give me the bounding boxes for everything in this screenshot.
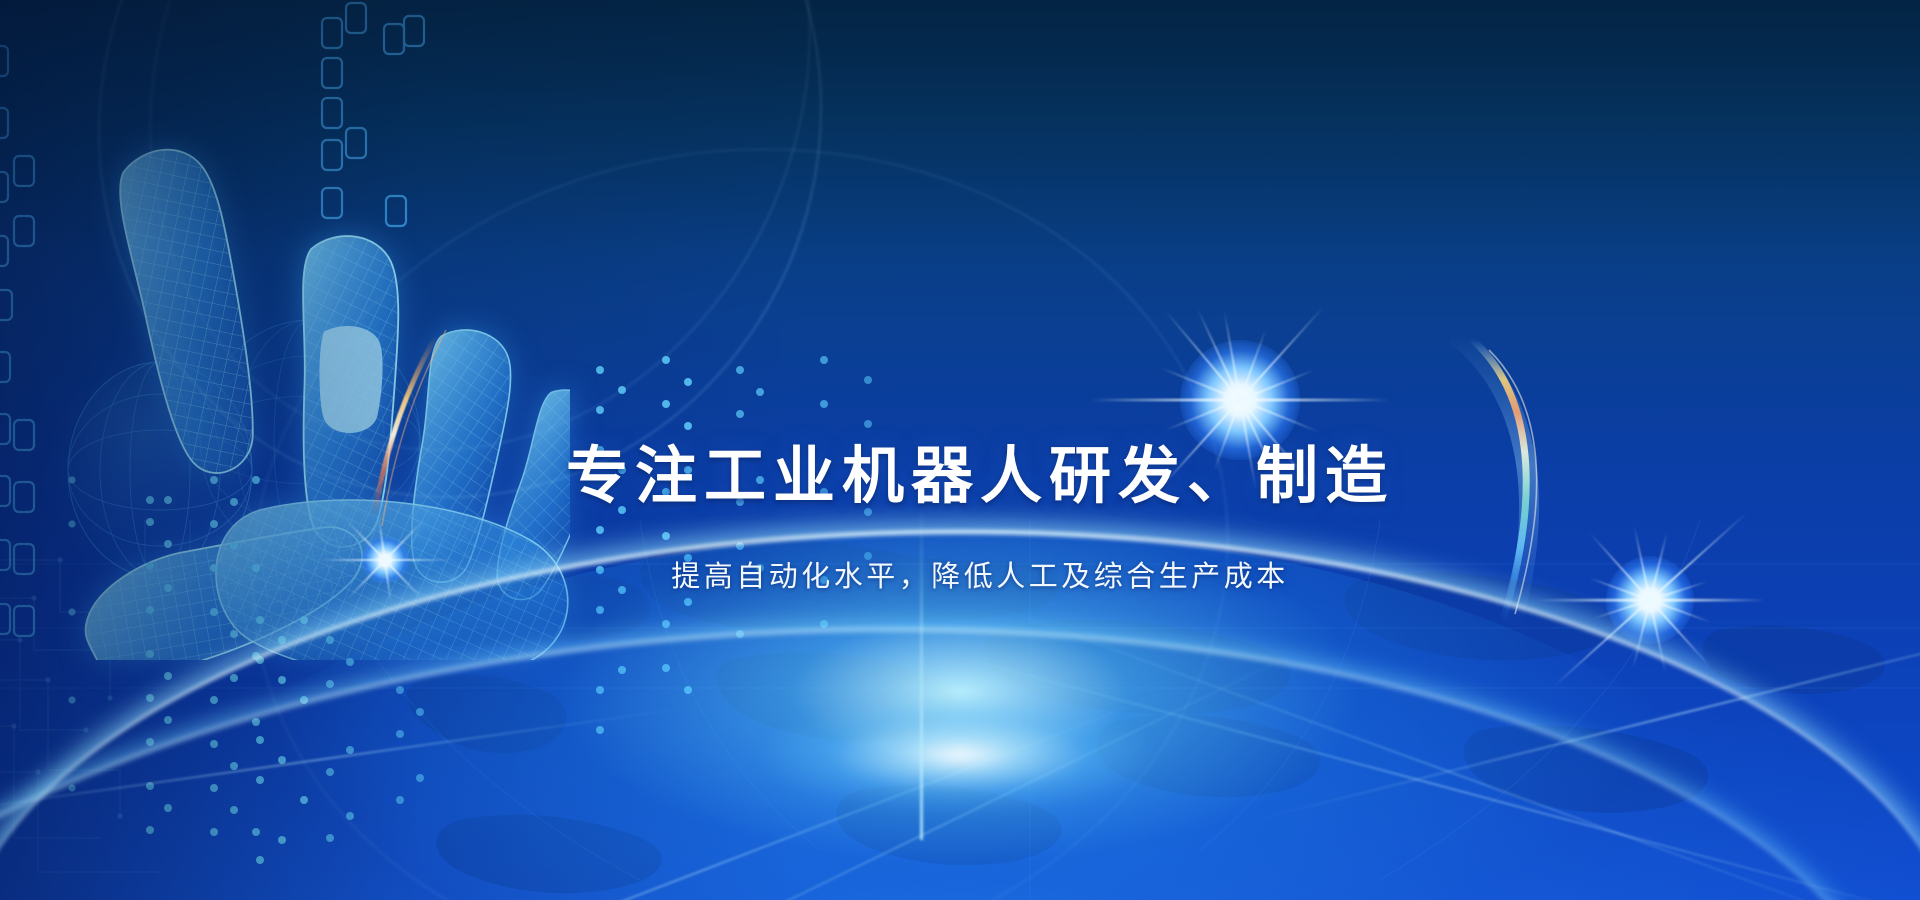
warm-lens-flare xyxy=(352,330,472,530)
wireframe-hand-graphic xyxy=(10,40,570,660)
page-subtitle: 提高自动化水平，降低人工及综合生产成本 xyxy=(0,553,1920,595)
light-ray-6 xyxy=(0,706,693,814)
star-flare-lower xyxy=(1560,510,1740,690)
top-vignette xyxy=(0,0,1920,900)
light-ray-4 xyxy=(980,600,1920,900)
binary-data-rain xyxy=(0,0,1920,900)
page-title: 专注工业机器人研发、制造 xyxy=(0,444,1920,509)
horizon-vertical-beam xyxy=(920,500,923,840)
light-ray-3 xyxy=(900,640,1920,900)
data-block-glyphs xyxy=(0,0,460,680)
light-ray-1 xyxy=(236,690,1170,900)
arc-swoosh-3 xyxy=(198,86,1283,900)
light-ray-5 xyxy=(1250,602,1920,822)
arc-swoosh-1 xyxy=(0,0,920,593)
banner-text-block: 专注工业机器人研发、制造 提高自动化水平，降低人工及综合生产成本 xyxy=(0,0,1920,900)
circuit-board-graphic xyxy=(0,520,550,900)
geo-grid-lines xyxy=(0,520,1920,900)
star-flare-small xyxy=(330,505,440,615)
world-map-graphic xyxy=(300,430,1900,900)
earth-horizon-graphic xyxy=(0,490,1920,900)
horizon-arc-secondary xyxy=(0,582,1920,900)
horizon-hotspot xyxy=(700,680,1220,830)
arc-swoosh-2 xyxy=(33,0,927,557)
left-vignette xyxy=(0,0,1920,900)
horizon-arc-primary xyxy=(0,530,1920,900)
horizon-glow xyxy=(80,530,1840,900)
hero-banner: 专注工业机器人研发、制造 提高自动化水平，降低人工及综合生产成本 xyxy=(0,0,1920,900)
iridescent-streak-graphic xyxy=(1415,330,1645,630)
light-ray-2 xyxy=(511,640,1321,900)
star-flare-upper xyxy=(1130,290,1350,510)
